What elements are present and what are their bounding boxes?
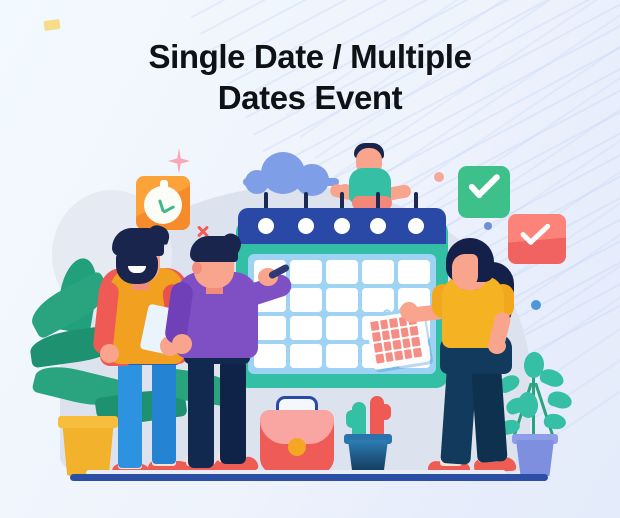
woman-hand-right — [488, 338, 506, 354]
calendar-cell[interactable] — [290, 288, 322, 312]
ground-line — [70, 474, 548, 481]
mini-calendar-grid — [370, 315, 422, 364]
cloud-shape — [243, 152, 339, 184]
woman-hand-left — [400, 302, 418, 320]
mini-calendar-cell — [374, 343, 383, 353]
sticky-note — [43, 19, 60, 31]
man-bearded-leg-left — [118, 360, 142, 468]
handbag-clasp — [288, 438, 306, 456]
woman-face — [452, 254, 478, 288]
calendar-ring-hole-5 — [408, 218, 424, 234]
mini-calendar-cell — [383, 341, 392, 351]
mini-calendar-cell — [380, 319, 389, 329]
plant-pot-yellow — [62, 420, 114, 476]
plant-leaf — [543, 412, 568, 431]
mini-calendar-cell — [372, 332, 381, 342]
dot-pink-icon — [434, 172, 444, 182]
calendar-cell[interactable] — [326, 260, 358, 284]
mini-calendar-cell — [400, 327, 409, 337]
calendar-cell[interactable] — [290, 316, 322, 340]
dot-blue-icon-2 — [484, 222, 492, 230]
calendar-ring-hole-4 — [370, 218, 386, 234]
page-title-line-2: Dates Event — [0, 77, 620, 118]
calendar-cell[interactable] — [326, 316, 358, 340]
man-bearded-leg-right — [152, 360, 176, 464]
mini-calendar-cell — [412, 337, 421, 347]
man-purple-leg-left — [188, 358, 214, 468]
man-purple-hand-left — [172, 334, 192, 354]
mini-calendar-cell — [410, 326, 419, 336]
calendar-cell[interactable] — [398, 260, 430, 284]
mini-calendar-cell — [402, 338, 411, 348]
red-check-badge — [508, 214, 566, 264]
page-title-line-1: Single Date / Multiple — [0, 36, 620, 77]
mini-calendar-cell — [389, 318, 398, 328]
man-bearded-hand-left — [100, 344, 119, 363]
green-check-badge — [458, 166, 510, 218]
calendar-cell[interactable] — [362, 260, 394, 284]
calendar-ring-hole-1 — [258, 218, 274, 234]
calendar-cell[interactable] — [254, 316, 286, 340]
cactus-arm-red — [380, 404, 391, 420]
clock-face — [144, 186, 182, 224]
timer-clock-badge — [136, 176, 190, 230]
mini-calendar-cell — [393, 340, 402, 350]
mini-calendar-cell — [394, 351, 403, 361]
page-title: Single Date / Multiple Dates Event — [0, 36, 620, 119]
mini-calendar-cell — [391, 329, 400, 339]
plant-pot-yellow-rim — [58, 416, 118, 428]
calendar-cell[interactable] — [326, 288, 358, 312]
dot-blue-icon-3 — [531, 300, 541, 310]
mini-calendar-cell — [375, 354, 384, 364]
calendar-cell[interactable] — [290, 344, 322, 368]
man-purple-ear — [192, 262, 202, 274]
clock-hand-hour — [162, 205, 175, 214]
cactus-arm-teal — [346, 410, 358, 428]
calendar-ring-hole-3 — [334, 218, 350, 234]
calendar-cell[interactable] — [326, 344, 358, 368]
calendar-ring-hole-2 — [298, 218, 314, 234]
calendar-cell[interactable] — [290, 260, 322, 284]
man-purple-leg-right — [220, 360, 246, 464]
mini-calendar-cell — [404, 349, 413, 359]
sparkle-icon — [168, 148, 190, 174]
mini-calendar-cell — [381, 330, 390, 340]
sprig-pot — [516, 440, 554, 476]
mini-calendar-cell — [385, 352, 394, 362]
plant-leaf — [546, 389, 574, 412]
mini-calendar-cell — [370, 321, 379, 331]
mini-calendar-cell — [413, 348, 422, 358]
calendar-cell[interactable] — [254, 344, 286, 368]
illustration-banner: Single Date / Multiple Dates Event — [0, 0, 620, 518]
calendar-cell[interactable] — [362, 288, 394, 312]
